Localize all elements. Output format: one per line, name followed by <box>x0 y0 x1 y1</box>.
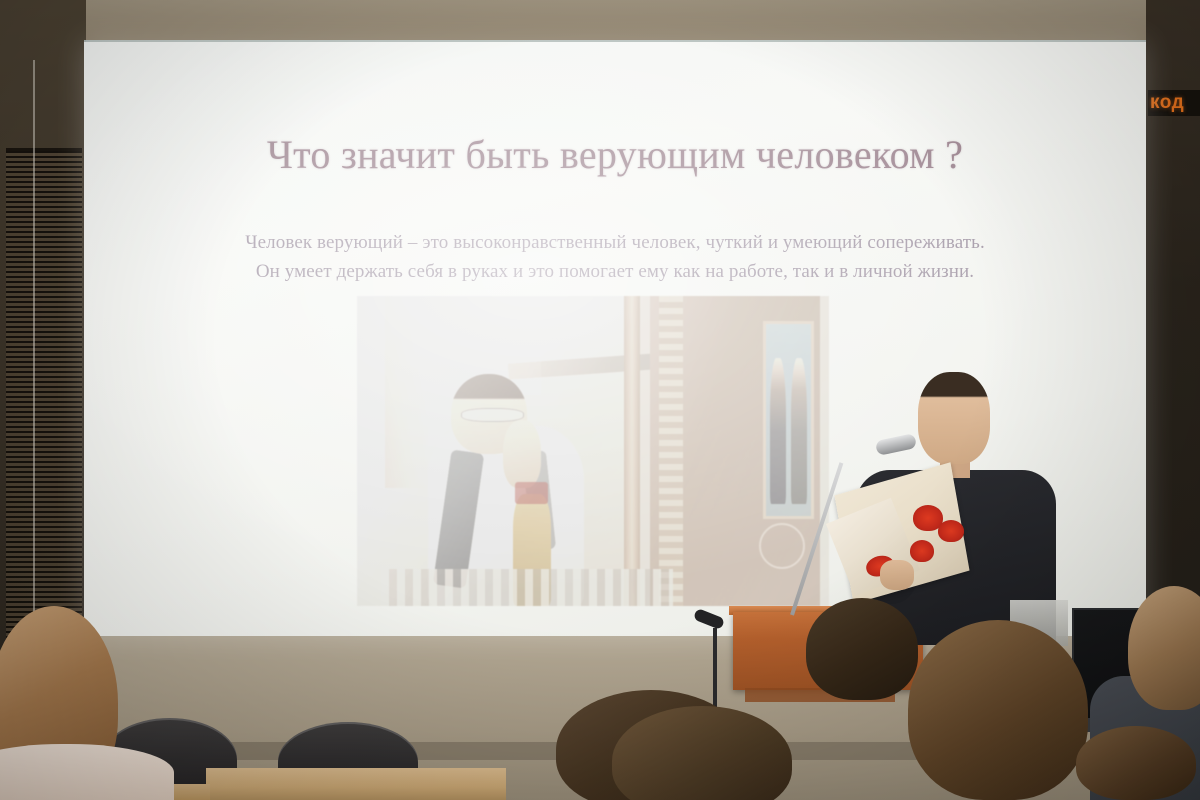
slide-body-line-2: Он умеет держать себя в руках и это помо… <box>84 257 1146 286</box>
slide-body-line-1: Человек верующий – это высоконравственны… <box>84 228 1146 257</box>
left-wall-dark-column <box>0 0 86 660</box>
second-microphone-stand <box>713 628 717 714</box>
presenter-hand <box>880 560 914 590</box>
slide-body-text: Человек верующий – это высоконравственны… <box>84 228 1146 287</box>
exit-sign: код <box>1148 90 1200 116</box>
audience-head <box>908 620 1088 800</box>
audience-head <box>806 598 918 700</box>
slide-photo <box>357 296 829 606</box>
presenter-head <box>918 372 990 464</box>
presentation-photo-scene: код Что значит быть верующим человеком ?… <box>0 0 1200 800</box>
exit-sign-label: код <box>1148 92 1184 114</box>
photo-projection-wash <box>357 296 829 606</box>
folder-poppy-3 <box>910 540 934 562</box>
audience-head <box>1076 726 1196 800</box>
folder-poppy-2 <box>938 520 964 542</box>
slide-title: Что значит быть верующим человеком ? <box>84 134 1146 176</box>
window-blinds-icon <box>6 148 82 643</box>
audience-desk <box>206 768 506 800</box>
blind-cord <box>33 60 35 640</box>
